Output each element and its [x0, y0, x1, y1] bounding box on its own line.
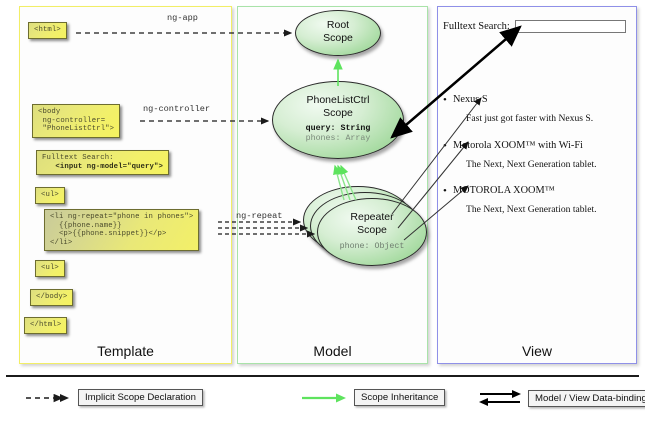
legend: Implicit Scope Declaration Scope Inherit…: [0, 375, 645, 425]
scope-root: Root Scope: [295, 10, 381, 56]
dashed-arrow-icon: [24, 392, 72, 404]
code-box-li-ngrepeat: <li ng-repeat="phone in phones"> {{phone…: [44, 209, 199, 251]
phone-name: Motorola XOOM™ with Wi-Fi: [453, 140, 633, 151]
phone-snippet: The Next, Next Generation tablet.: [466, 159, 633, 170]
diagram-canvas: Template Model View <html> <body ng-cont…: [0, 0, 645, 425]
code-box-body-open: <body ng-controller= "PhoneListCtrl">: [32, 104, 120, 138]
code-box-body-close: </body>: [30, 289, 73, 306]
legend-item-scope-inheritance: Scope Inheritance: [300, 389, 445, 406]
legend-label-binding: Model / View Data-binding: [528, 390, 645, 407]
panel-label-model: Model: [238, 343, 427, 359]
code-fulltext-input-tag: <input ng-model="query">: [42, 163, 163, 171]
scope-repeater: Repeater Scope phone: Object: [317, 198, 427, 266]
list-item: MOTOROLA XOOM™ The Next, Next Generation…: [453, 185, 633, 215]
scope-repeater-props: phone: Object: [318, 242, 426, 251]
legend-item-implicit-scope: Implicit Scope Declaration: [24, 389, 203, 406]
phone-name: Nexus S: [453, 94, 633, 105]
edge-label-ng-repeat: ng-repeat: [236, 211, 282, 221]
list-item: Motorola XOOM™ with Wi-Fi The Next, Next…: [453, 140, 633, 170]
code-fulltext-label: Fulltext Search:: [42, 154, 114, 162]
legend-divider: [6, 375, 639, 377]
green-arrow-icon: [300, 392, 348, 404]
scope-root-label: Root Scope: [296, 19, 380, 44]
edge-label-ng-app: ng-app: [167, 13, 198, 23]
list-item: Nexus S Fast just got faster with Nexus …: [453, 94, 633, 124]
view-search-label: Fulltext Search:: [443, 21, 510, 32]
panel-template: Template: [19, 6, 232, 364]
double-arrow-icon: [478, 389, 522, 407]
scope-prop-query: query: String: [273, 124, 403, 134]
legend-label-inheritance: Scope Inheritance: [354, 389, 445, 406]
scope-phonelistctrl-props: query: String phones: Array: [273, 124, 403, 144]
legend-label-implicit: Implicit Scope Declaration: [78, 389, 203, 406]
scope-prop-phones: phones: Array: [273, 134, 403, 144]
phone-snippet: Fast just got faster with Nexus S.: [466, 113, 633, 124]
search-input[interactable]: [515, 20, 626, 33]
panel-label-view: View: [438, 343, 636, 359]
code-box-html-open: <html>: [28, 22, 67, 39]
scope-phonelistctrl-label: PhoneListCtrl Scope: [273, 94, 403, 119]
view-rendered-page: Fulltext Search: Nexus S Fast just got f…: [443, 12, 631, 242]
panel-model: Model: [237, 6, 428, 364]
scope-repeater-label: Repeater Scope: [318, 211, 426, 236]
code-box-ul-open: <ul>: [35, 187, 65, 204]
phone-snippet: The Next, Next Generation tablet.: [466, 204, 633, 215]
edge-label-ng-controller: ng-controller: [143, 104, 210, 114]
phone-name: MOTOROLA XOOM™: [453, 185, 633, 196]
view-search-row: Fulltext Search:: [443, 20, 626, 33]
panel-label-template: Template: [20, 343, 231, 359]
legend-item-data-binding: Model / View Data-binding: [478, 389, 645, 407]
code-box-ul-close: <ul>: [35, 260, 65, 277]
code-box-fulltext-input: Fulltext Search: <input ng-model="query"…: [36, 150, 169, 175]
scope-phonelistctrl: PhoneListCtrl Scope query: String phones…: [272, 81, 404, 159]
code-box-html-close: </html>: [24, 317, 67, 334]
